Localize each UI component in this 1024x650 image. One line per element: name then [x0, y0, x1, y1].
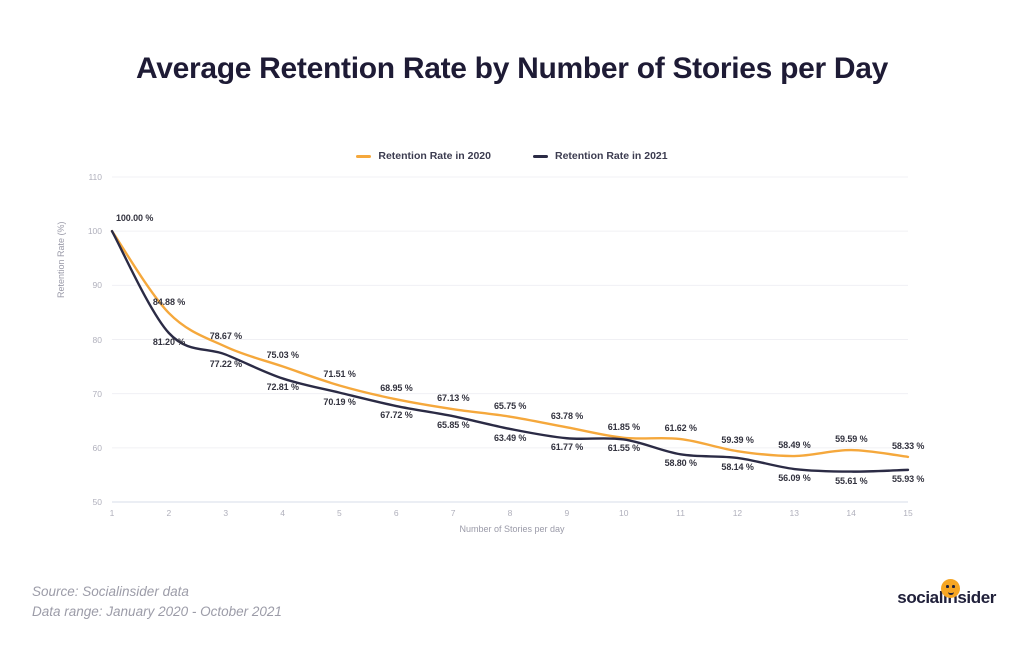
- brand-logo: socialinsider: [897, 588, 996, 608]
- data-label-2021-12: 58.14 %: [721, 462, 753, 472]
- data-label-2021-15: 55.93 %: [892, 474, 924, 484]
- data-range-line: Data range: January 2020 - October 2021: [32, 602, 282, 622]
- y-axis-tick-label: 90: [68, 280, 102, 290]
- data-label-2020-9: 63.78 %: [551, 411, 583, 421]
- data-label-2020-14: 59.59 %: [835, 434, 867, 444]
- smiley-mouth-icon: [948, 590, 954, 596]
- data-label-2020-4: 75.03 %: [267, 350, 299, 360]
- x-axis-tick-label: 1: [97, 508, 127, 518]
- data-label-2020-2: 84.88 %: [153, 297, 185, 307]
- x-axis-tick-label: 9: [552, 508, 582, 518]
- source-line: Source: Socialinsider data: [32, 582, 282, 602]
- x-axis-tick-label: 14: [836, 508, 866, 518]
- x-axis-tick-label: 13: [779, 508, 809, 518]
- data-label-2020-6: 68.95 %: [380, 383, 412, 393]
- data-label-2021-7: 65.85 %: [437, 420, 469, 430]
- data-label-2021-11: 58.80 %: [665, 458, 697, 468]
- y-axis-tick-label: 70: [68, 389, 102, 399]
- source-note: Source: Socialinsider data Data range: J…: [32, 582, 282, 621]
- data-label-2021-3: 77.22 %: [210, 359, 242, 369]
- data-label-2021-2: 81.20 %: [153, 337, 185, 347]
- x-axis-tick-label: 12: [722, 508, 752, 518]
- data-label-2020-13: 58.49 %: [778, 440, 810, 450]
- data-label-2021-9: 61.77 %: [551, 442, 583, 452]
- chart-plot-area: Retention Rate (%) Number of Stories per…: [0, 0, 1024, 650]
- x-axis-tick-label: 6: [381, 508, 411, 518]
- y-axis-tick-label: 60: [68, 443, 102, 453]
- x-axis-tick-label: 3: [211, 508, 241, 518]
- data-label-2020-15: 58.33 %: [892, 441, 924, 451]
- data-label-2021-8: 63.49 %: [494, 433, 526, 443]
- data-label-2020-3: 78.67 %: [210, 331, 242, 341]
- data-label-2021-10: 61.55 %: [608, 443, 640, 453]
- x-axis-tick-label: 11: [666, 508, 696, 518]
- data-label-2020-5: 71.51 %: [323, 369, 355, 379]
- data-label-2021-13: 56.09 %: [778, 473, 810, 483]
- x-axis-title: Number of Stories per day: [0, 524, 1024, 534]
- data-label-2020-10: 61.85 %: [608, 422, 640, 432]
- x-axis-tick-label: 2: [154, 508, 184, 518]
- y-axis-tick-label: 100: [68, 226, 102, 236]
- data-label-2021-5: 70.19 %: [323, 397, 355, 407]
- x-axis-tick-label: 4: [268, 508, 298, 518]
- x-axis-tick-label: 10: [609, 508, 639, 518]
- data-label-2021-6: 67.72 %: [380, 410, 412, 420]
- y-axis-tick-label: 80: [68, 335, 102, 345]
- series-line-2020: [112, 231, 908, 457]
- x-axis-tick-label: 15: [893, 508, 923, 518]
- data-label-2021-4: 72.81 %: [267, 382, 299, 392]
- data-label-2020-1: 100.00 %: [116, 213, 153, 223]
- x-axis-tick-label: 7: [438, 508, 468, 518]
- chart-svg: [0, 0, 1024, 650]
- data-label-2020-11: 61.62 %: [665, 423, 697, 433]
- y-axis-tick-label: 50: [68, 497, 102, 507]
- x-axis-tick-label: 8: [495, 508, 525, 518]
- y-axis-title: Retention Rate (%): [56, 221, 66, 298]
- data-label-2021-14: 55.61 %: [835, 476, 867, 486]
- data-label-2020-12: 59.39 %: [721, 435, 753, 445]
- data-label-2020-7: 67.13 %: [437, 393, 469, 403]
- data-label-2020-8: 65.75 %: [494, 401, 526, 411]
- y-axis-tick-label: 110: [68, 172, 102, 182]
- x-axis-tick-label: 5: [324, 508, 354, 518]
